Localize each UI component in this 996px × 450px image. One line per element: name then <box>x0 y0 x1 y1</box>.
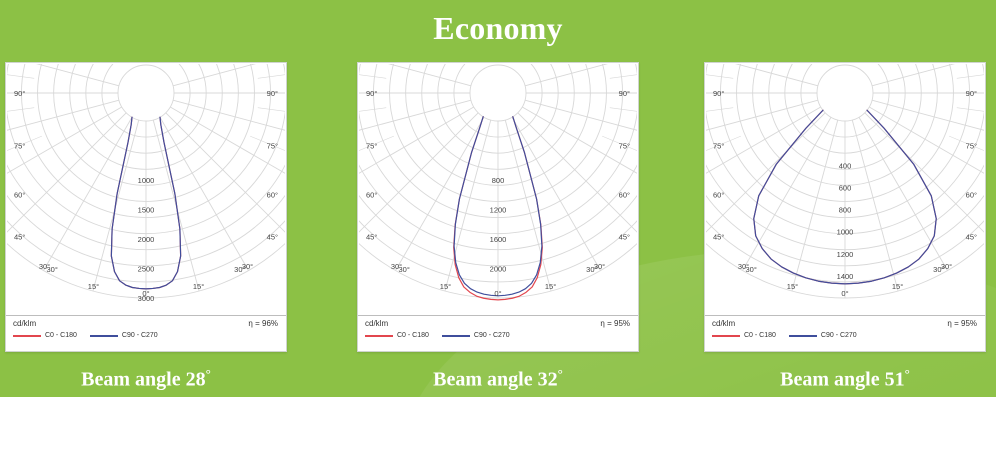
legend-item-c0-c180-2: C0 - C180 <box>365 332 429 339</box>
legend-swatch-red-icon <box>365 335 393 337</box>
svg-text:600: 600 <box>839 183 852 192</box>
legend-swatch-blue-icon <box>442 335 470 337</box>
legend-label-c0-c180-2: C0 - C180 <box>397 332 429 339</box>
beam-angle-caption-text-3: Beam angle 51 <box>780 369 904 391</box>
svg-text:800: 800 <box>492 176 505 185</box>
svg-text:60°: 60° <box>14 191 25 200</box>
photometric-datasheet-page: Economy 10001500200025003000105°105°90°9… <box>0 0 996 450</box>
legend-item-c90-c270-1: C90 - C270 <box>90 332 158 339</box>
svg-text:45°: 45° <box>619 233 630 242</box>
svg-text:2500: 2500 <box>138 265 155 274</box>
unit-label-3: cd/klm <box>712 319 735 328</box>
efficiency-label-2: η = 95% <box>600 319 630 328</box>
legend-item-c90-c270-3: C90 - C270 <box>789 332 857 339</box>
degree-symbol-icon: ° <box>905 366 910 381</box>
svg-text:60°: 60° <box>267 191 278 200</box>
svg-text:1200: 1200 <box>490 206 507 215</box>
svg-text:2000: 2000 <box>490 265 507 274</box>
svg-text:800: 800 <box>839 206 852 215</box>
beam-angle-caption-1: Beam angle 28° <box>5 360 287 394</box>
svg-text:1400: 1400 <box>837 272 854 281</box>
captions-row: Beam angle 28° Beam angle 32° Beam angle… <box>0 360 996 396</box>
svg-text:15°: 15° <box>88 282 99 291</box>
degree-symbol-icon: ° <box>558 366 563 381</box>
svg-text:60°: 60° <box>366 191 377 200</box>
polar-plot-3: 400600800100012001400105°105°90°90°75°75… <box>705 63 985 315</box>
svg-text:1200: 1200 <box>837 250 854 259</box>
svg-text:0°: 0° <box>841 289 848 298</box>
beam-angle-caption-text-2: Beam angle 32 <box>433 369 557 391</box>
legend-item-c0-c180-3: C0 - C180 <box>712 332 776 339</box>
svg-text:60°: 60° <box>966 191 977 200</box>
svg-text:2000: 2000 <box>138 235 155 244</box>
svg-text:45°: 45° <box>713 233 724 242</box>
legend-label-c90-c270-3: C90 - C270 <box>821 332 857 339</box>
legend-label-c90-c270-1: C90 - C270 <box>122 332 158 339</box>
page-title: Economy <box>0 10 996 46</box>
efficiency-label-1: η = 96% <box>248 319 278 328</box>
legend-swatch-blue-icon <box>90 335 118 337</box>
svg-text:75°: 75° <box>619 142 630 151</box>
svg-text:75°: 75° <box>267 142 278 151</box>
legend-3: C0 - C180 C90 - C270 <box>712 332 857 339</box>
polar-diagram-svg-3: 400600800100012001400105°105°90°90°75°75… <box>705 63 985 315</box>
svg-text:90°: 90° <box>966 89 977 98</box>
legend-1: C0 - C180 C90 - C270 <box>13 332 158 339</box>
svg-text:15°: 15° <box>440 282 451 291</box>
polar-diagram-svg-1: 10001500200025003000105°105°90°90°75°75°… <box>6 63 286 315</box>
legend-label-c0-c180-1: C0 - C180 <box>45 332 77 339</box>
svg-text:75°: 75° <box>713 142 724 151</box>
svg-text:30°: 30° <box>738 262 749 271</box>
svg-text:0°: 0° <box>142 289 149 298</box>
charts-row: 10001500200025003000105°105°90°90°75°75°… <box>0 62 996 352</box>
svg-text:90°: 90° <box>713 89 724 98</box>
svg-text:15°: 15° <box>193 282 204 291</box>
svg-text:30°: 30° <box>941 262 952 271</box>
svg-text:45°: 45° <box>966 233 977 242</box>
unit-label-2: cd/klm <box>365 319 388 328</box>
svg-text:15°: 15° <box>892 282 903 291</box>
svg-text:45°: 45° <box>14 233 25 242</box>
svg-text:30°: 30° <box>39 262 50 271</box>
legend-label-c0-c180-3: C0 - C180 <box>744 332 776 339</box>
polar-diagram-svg-2: 800120016002000105°105°90°90°75°75°60°60… <box>358 63 638 315</box>
legend-swatch-red-icon <box>13 335 41 337</box>
chart-footer-3: cd/klm η = 95% C0 - C180 C90 - C270 <box>705 315 985 351</box>
svg-text:1600: 1600 <box>490 235 507 244</box>
beam-angle-caption-2: Beam angle 32° <box>357 360 639 394</box>
chart-card-2[interactable]: 800120016002000105°105°90°90°75°75°60°60… <box>357 62 639 352</box>
svg-text:30°: 30° <box>391 262 402 271</box>
legend-item-c90-c270-2: C90 - C270 <box>442 332 510 339</box>
chart-footer-1: cd/klm η = 96% C0 - C180 C90 - C270 <box>6 315 286 351</box>
degree-symbol-icon: ° <box>206 366 211 381</box>
beam-angle-caption-3: Beam angle 51° <box>704 360 986 394</box>
svg-text:60°: 60° <box>619 191 630 200</box>
polar-plot-1: 10001500200025003000105°105°90°90°75°75°… <box>6 63 286 315</box>
svg-text:15°: 15° <box>545 282 556 291</box>
legend-item-c0-c180-1: C0 - C180 <box>13 332 77 339</box>
polar-plot-2: 800120016002000105°105°90°90°75°75°60°60… <box>358 63 638 315</box>
legend-swatch-red-icon <box>712 335 740 337</box>
unit-label-1: cd/klm <box>13 319 36 328</box>
svg-text:15°: 15° <box>787 282 798 291</box>
legend-2: C0 - C180 C90 - C270 <box>365 332 510 339</box>
svg-text:90°: 90° <box>267 89 278 98</box>
svg-text:1000: 1000 <box>837 228 854 237</box>
svg-text:75°: 75° <box>366 142 377 151</box>
chart-card-3[interactable]: 400600800100012001400105°105°90°90°75°75… <box>704 62 986 352</box>
svg-text:1500: 1500 <box>138 206 155 215</box>
legend-label-c90-c270-2: C90 - C270 <box>474 332 510 339</box>
svg-text:60°: 60° <box>713 191 724 200</box>
svg-text:1000: 1000 <box>138 176 155 185</box>
svg-text:30°: 30° <box>242 262 253 271</box>
chart-footer-2: cd/klm η = 95% C0 - C180 C90 - C270 <box>358 315 638 351</box>
legend-swatch-blue-icon <box>789 335 817 337</box>
svg-text:90°: 90° <box>14 89 25 98</box>
svg-text:75°: 75° <box>14 142 25 151</box>
efficiency-label-3: η = 95% <box>947 319 977 328</box>
svg-text:0°: 0° <box>494 289 501 298</box>
svg-text:45°: 45° <box>267 233 278 242</box>
svg-text:75°: 75° <box>966 142 977 151</box>
chart-card-1[interactable]: 10001500200025003000105°105°90°90°75°75°… <box>5 62 287 352</box>
beam-angle-caption-text-1: Beam angle 28 <box>81 369 205 391</box>
svg-text:90°: 90° <box>366 89 377 98</box>
svg-text:30°: 30° <box>594 262 605 271</box>
svg-text:400: 400 <box>839 161 852 170</box>
svg-text:45°: 45° <box>366 233 377 242</box>
svg-text:90°: 90° <box>619 89 630 98</box>
